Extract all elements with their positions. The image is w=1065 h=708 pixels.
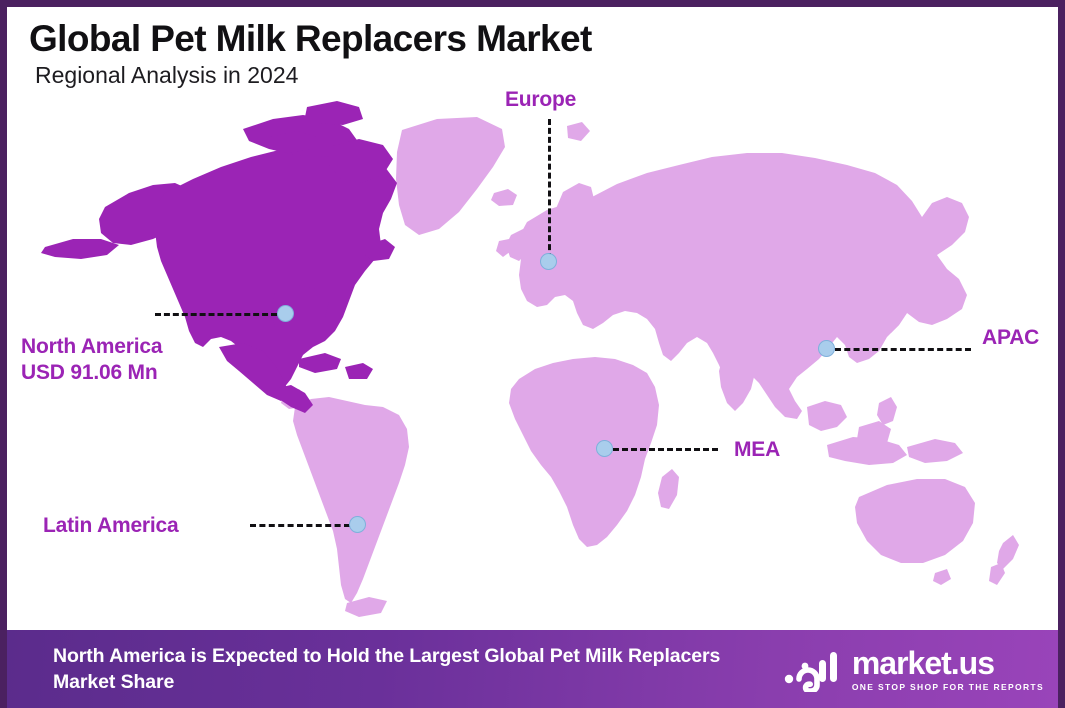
page-title: Global Pet Milk Replacers Market: [29, 19, 1058, 58]
banner-headline: North America is Expected to Hold the La…: [53, 643, 783, 696]
map-marker-apac[interactable]: [818, 340, 835, 357]
logo-name: market.us: [852, 647, 994, 679]
south-america-shape: [293, 397, 409, 603]
infographic-page: Global Pet Milk Replacers Market Regiona…: [0, 0, 1065, 708]
region-label-mea[interactable]: MEA: [734, 437, 780, 463]
central-america-shape: [273, 385, 313, 413]
region-label-north-america-name: North America: [21, 334, 162, 360]
logo-wordmark: market.us ONE STOP SHOP FOR THE REPORTS: [852, 647, 1044, 692]
new-guinea-shape: [907, 439, 963, 463]
leader-line-apac: [835, 348, 971, 351]
india-shape: [719, 353, 755, 411]
leader-line-north-america: [155, 313, 277, 316]
cuba-shape: [299, 353, 341, 373]
map-marker-latin-america[interactable]: [349, 516, 366, 533]
page-subtitle: Regional Analysis in 2024: [35, 63, 1058, 88]
map-marker-europe[interactable]: [540, 253, 557, 270]
southeast-asia-shape: [807, 401, 847, 431]
greenland-shape: [396, 117, 505, 235]
tasmania-shape: [933, 569, 951, 585]
svalbard-shape: [567, 122, 590, 141]
leader-line-latin-america: [250, 524, 350, 527]
bottom-banner: North America is Expected to Hold the La…: [7, 630, 1065, 708]
logo-tagline: ONE STOP SHOP FOR THE REPORTS: [852, 682, 1044, 692]
leader-line-mea: [613, 448, 718, 451]
region-label-latin-america[interactable]: Latin America: [43, 513, 179, 539]
leader-line-europe: [548, 119, 551, 259]
region-label-north-america[interactable]: North America USD 91.06 Mn: [21, 334, 162, 385]
region-label-europe[interactable]: Europe: [505, 87, 576, 113]
region-label-apac[interactable]: APAC: [982, 325, 1039, 351]
header: Global Pet Milk Replacers Market Regiona…: [7, 7, 1058, 89]
australia-shape: [855, 479, 975, 563]
hispaniola-shape: [345, 363, 373, 379]
region-value-north-america: USD 91.06 Mn: [21, 360, 162, 386]
aleutian-shape: [41, 239, 119, 259]
map-marker-mea[interactable]: [596, 440, 613, 457]
market-us-logo-mark-icon: [783, 646, 843, 692]
philippines-shape: [877, 397, 897, 425]
ireland-shape: [496, 239, 511, 257]
map-marker-north-america[interactable]: [277, 305, 294, 322]
market-us-logo[interactable]: market.us ONE STOP SHOP FOR THE REPORTS: [783, 646, 1054, 692]
africa-shape: [509, 357, 659, 547]
madagascar-shape: [658, 469, 679, 509]
iceland-shape: [491, 189, 517, 206]
